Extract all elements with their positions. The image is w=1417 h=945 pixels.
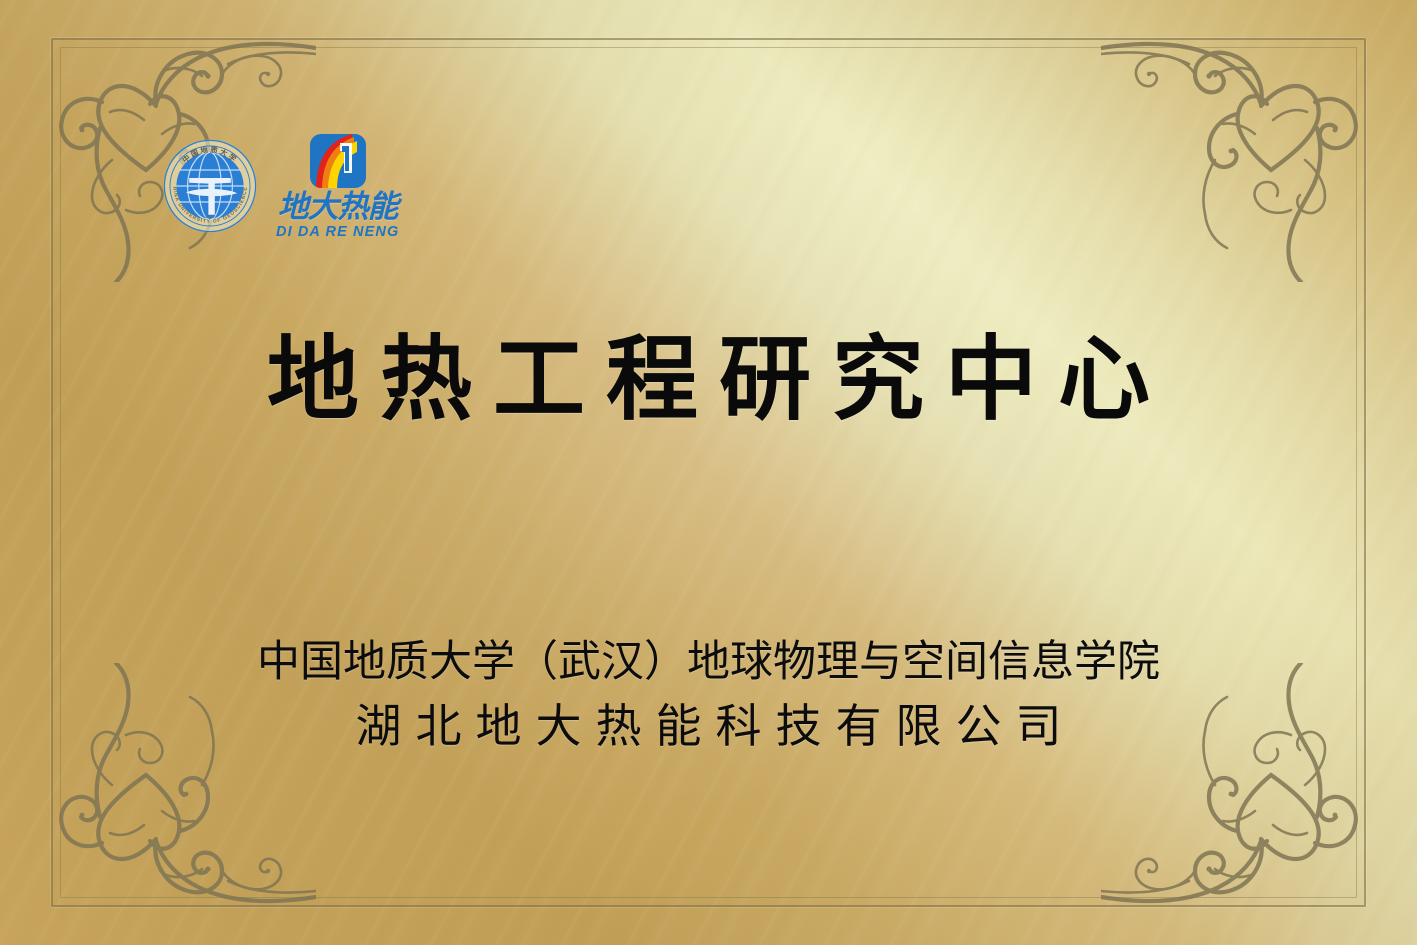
plaque-title: 地热工程研究中心: [0, 330, 1417, 429]
china-university-of-geosciences-emblem-icon: 中国地质大学 CHINA UNIVERSITY OF GEOSCIENCES 1…: [162, 138, 258, 234]
plaque-board: 中国地质大学 CHINA UNIVERSITY OF GEOSCIENCES 1…: [0, 0, 1417, 945]
didareneng-chinese-name: 地大热能: [278, 192, 398, 223]
plaque-affiliations: 中国地质大学（武汉）地球物理与空间信息学院 湖北地大热能科技有限公司: [0, 636, 1417, 755]
affiliation-university: 中国地质大学（武汉）地球物理与空间信息学院: [0, 636, 1417, 688]
didareneng-pinyin: DI DA RE NENG: [276, 225, 399, 240]
logo-group: 中国地质大学 CHINA UNIVERSITY OF GEOSCIENCES 1…: [162, 133, 399, 240]
svg-text:1952: 1952: [205, 214, 216, 220]
affiliation-company: 湖北地大热能科技有限公司: [0, 698, 1417, 754]
didareneng-mark-icon: [308, 133, 368, 191]
didareneng-logo: 地大热能 DI DA RE NENG: [276, 133, 399, 240]
